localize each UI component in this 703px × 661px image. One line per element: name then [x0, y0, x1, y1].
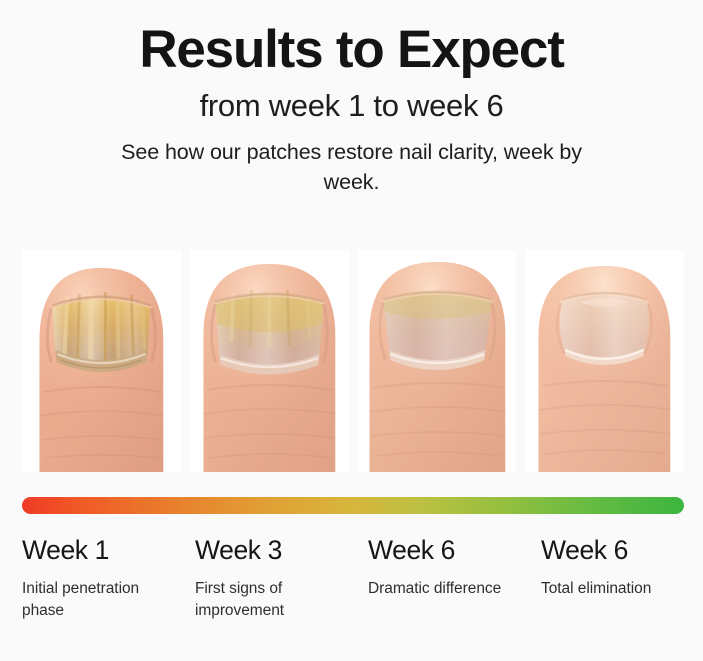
page-subtitle: from week 1 to week 6 [0, 89, 703, 124]
caption-column-week-3: Week 3 First signs of improvement [195, 536, 368, 622]
caption-description: Dramatic difference [368, 578, 528, 600]
before-after-photo-strip [22, 250, 684, 472]
toe-illustration-week-6-a [358, 250, 517, 472]
severity-gradient-bar [22, 497, 684, 514]
photo-toe-nail-week-6-a [358, 250, 517, 472]
caption-week-label: Week 6 [368, 536, 541, 565]
toe-illustration-week-1 [22, 250, 181, 472]
page-lede: See how our patches restore nail clarity… [92, 137, 612, 197]
caption-week-label: Week 3 [195, 536, 368, 565]
caption-column-week-6-a: Week 6 Dramatic difference [368, 536, 541, 622]
header: Results to Expect from week 1 to week 6 … [0, 0, 703, 197]
toe-illustration-week-6-b [525, 250, 684, 472]
results-to-expect-infographic: Results to Expect from week 1 to week 6 … [0, 0, 703, 661]
toe-illustration-week-3 [190, 250, 349, 472]
timeline-captions: Week 1 Initial penetration phase Week 3 … [22, 536, 684, 622]
caption-week-label: Week 1 [22, 536, 195, 565]
photo-toe-nail-week-1 [22, 250, 181, 472]
photo-toe-nail-week-3 [190, 250, 349, 472]
caption-description: Initial penetration phase [22, 578, 182, 622]
photo-toe-nail-week-6-b [525, 250, 684, 472]
caption-description: Total elimination [541, 578, 701, 600]
caption-description: First signs of improvement [195, 578, 355, 622]
caption-column-week-6-b: Week 6 Total elimination [541, 536, 701, 622]
caption-week-label: Week 6 [541, 536, 701, 565]
page-title: Results to Expect [0, 22, 703, 78]
caption-column-week-1: Week 1 Initial penetration phase [22, 536, 195, 622]
